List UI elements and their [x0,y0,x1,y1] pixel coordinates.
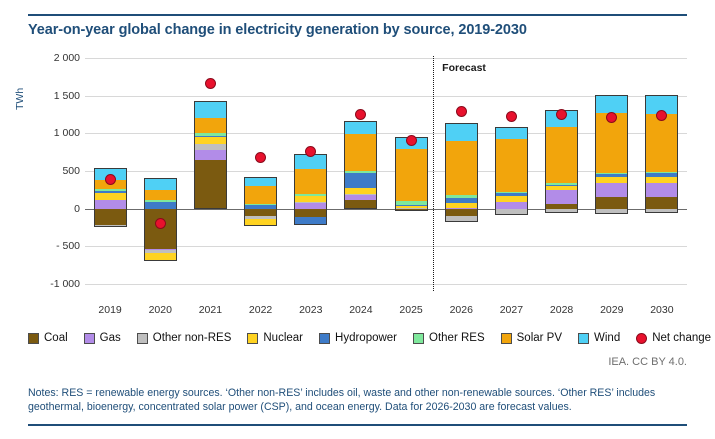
bottom-divider [28,424,687,426]
legend-item-wind[interactable]: Wind [578,332,620,344]
legend-item-hydropower[interactable]: Hydropower [319,332,397,344]
bar-outline-2028 [545,110,578,212]
legend-item-solar_pv[interactable]: Solar PV [501,332,562,344]
bar-group-2020[interactable] [144,52,177,300]
y-tick-label: 1 500 [22,91,80,101]
net-change-marker-2021 [205,78,216,89]
legend-label-other_non_res: Other non-RES [153,332,232,344]
net-change-marker-2020 [155,218,166,229]
legend-label-solar_pv: Solar PV [517,332,562,344]
legend-item-other_non_res[interactable]: Other non-RES [137,332,232,344]
bar-group-2023[interactable] [294,52,327,300]
legend-swatch-wind [578,333,589,344]
legend-item-nuclear[interactable]: Nuclear [247,332,303,344]
legend-label-net_change: Net change [652,332,711,344]
bar-group-2025[interactable] [395,52,428,300]
bar-group-2029[interactable] [595,52,628,300]
legend-swatch-other_non_res [137,333,148,344]
legend-label-hydropower: Hydropower [335,332,397,344]
chart-legend: CoalGasOther non-RESNuclearHydropowerOth… [28,329,698,347]
y-tick-label: -1 000 [22,279,80,289]
net-change-marker-2025 [406,135,417,146]
legend-label-gas: Gas [100,332,121,344]
y-axis-ticks: 2 0001 5001 0005000- 500-1 000 [20,52,80,300]
legend-item-other_res[interactable]: Other RES [413,332,485,344]
legend-swatch-nuclear [247,333,258,344]
legend-label-coal: Coal [44,332,68,344]
legend-item-gas[interactable]: Gas [84,332,121,344]
legend-item-coal[interactable]: Coal [28,332,68,344]
forecast-divider [433,56,434,291]
x-tick-label-2030: 2030 [632,304,692,316]
plot-area: TWh 2 0001 5001 0005000- 500-1 000 Forec… [0,52,715,300]
bar-outline-2021 [194,101,227,209]
y-tick-label: 500 [22,166,80,176]
y-tick-label: - 500 [22,241,80,251]
bar-outline-2022 [244,177,277,226]
bar-outline-2026 [445,123,478,222]
x-axis-ticks: 2019202020212022202320242025202620272028… [85,304,687,320]
legend-swatch-hydropower [319,333,330,344]
credit-text: IEA. CC BY 4.0. [608,356,687,368]
bar-outline-2027 [495,127,528,216]
page-title: Year-on-year global change in electricit… [28,22,678,38]
legend-swatch-other_res [413,333,424,344]
y-tick-label: 2 000 [22,53,80,63]
legend-item-net_change[interactable]: Net change [636,332,711,344]
legend-label-nuclear: Nuclear [263,332,303,344]
forecast-label: Forecast [442,62,486,74]
notes-text: Notes: RES = renewable energy sources. ‘… [28,386,690,414]
chart-page: Year-on-year global change in electricit… [0,0,715,439]
bar-series-group: Forecast [85,52,687,300]
legend-swatch-coal [28,333,39,344]
legend-swatch-gas [84,333,95,344]
bar-group-2024[interactable] [344,52,377,300]
net-change-marker-2027 [506,111,517,122]
bar-group-2022[interactable] [244,52,277,300]
legend-swatch-solar_pv [501,333,512,344]
net-change-marker-2019 [105,174,116,185]
y-tick-label: 1 000 [22,128,80,138]
bar-group-2030[interactable] [645,52,678,300]
net-change-marker-2026 [456,106,467,117]
legend-swatch-net_change [636,333,647,344]
bar-outline-2024 [344,121,377,208]
top-divider [28,14,687,16]
bar-group-2028[interactable] [545,52,578,300]
bar-group-2026[interactable] [445,52,478,300]
net-change-marker-2024 [355,109,366,120]
bar-group-2021[interactable] [194,52,227,300]
bar-outline-2023 [294,154,327,225]
bar-group-2027[interactable] [495,52,528,300]
bar-outline-2025 [395,137,428,210]
net-change-marker-2022 [255,152,266,163]
y-tick-label: 0 [22,204,80,214]
legend-label-other_res: Other RES [429,332,485,344]
bar-group-2019[interactable] [94,52,127,300]
legend-label-wind: Wind [594,332,620,344]
